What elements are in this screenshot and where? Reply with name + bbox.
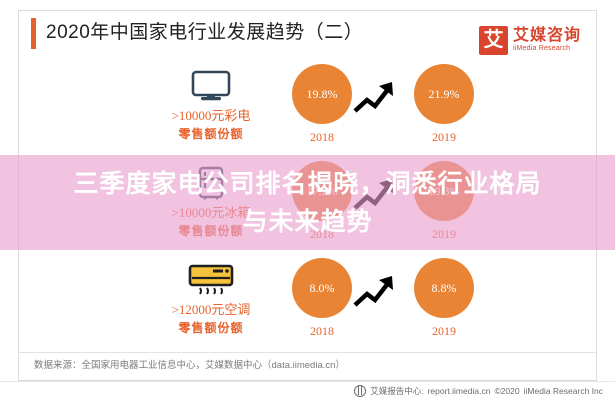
infographic-canvas: 2020年中国家电行业发展趋势（二） 艾 艾媒咨询 iiMedia Resear… bbox=[0, 0, 615, 400]
brand-logo: 艾 艾媒咨询 iiMedia Research bbox=[479, 26, 581, 55]
bubble-value-2018: 19.8% bbox=[292, 64, 352, 124]
promo-overlay-headline: 三季度家电公司排名揭晓，洞悉行业格局与未来趋势 bbox=[73, 165, 543, 241]
row-label-line1: >12000元空调 bbox=[172, 300, 251, 319]
trend-up-arrow-icon bbox=[352, 272, 398, 312]
bubble-year-2019: 2019 bbox=[432, 324, 456, 339]
row-label-block: >10000元彩电 零售额份额 bbox=[126, 58, 296, 154]
bubble-2019: 8.8% 2019 bbox=[396, 258, 492, 346]
trend-up-arrow-icon bbox=[352, 78, 398, 118]
source-text: 数据来源：全国家用电器工业信息中心，艾媒数据中心（data.iimedia.cn… bbox=[34, 359, 345, 373]
globe-icon bbox=[354, 385, 366, 397]
brand-name-cn: 艾媒咨询 bbox=[513, 27, 581, 44]
promo-overlay-banner: 三季度家电公司排名揭晓，洞悉行业格局与未来趋势 bbox=[0, 155, 615, 250]
title-accent-bar bbox=[31, 18, 36, 49]
row-label-line1: >10000元彩电 bbox=[172, 106, 251, 125]
row-label-block: >12000元空调 零售额份额 bbox=[126, 252, 296, 348]
bubble-value-2018: 8.0% bbox=[292, 258, 352, 318]
header: 2020年中国家电行业发展趋势（二） 艾 艾媒咨询 iiMedia Resear… bbox=[18, 14, 597, 54]
source-footer: 数据来源：全国家用电器工业信息中心，艾媒数据中心（data.iimedia.cn… bbox=[18, 352, 597, 380]
brand-mark-icon: 艾 bbox=[479, 26, 508, 55]
report-center-label: 艾媒报告中心: bbox=[370, 384, 423, 398]
air-conditioner-icon bbox=[187, 263, 235, 297]
brand-wordmark: 艾媒咨询 iiMedia Research bbox=[513, 27, 581, 54]
bottom-bar: 艾媒报告中心: report.iimedia.cn ©2020 iiMedia … bbox=[0, 381, 615, 400]
data-row: >10000元彩电 零售额份额 19.8% 2018 21.9% 2019 bbox=[18, 58, 597, 154]
bottom-bar-content: 艾媒报告中心: report.iimedia.cn ©2020 iiMedia … bbox=[354, 384, 603, 398]
bubble-value-2019: 8.8% bbox=[414, 258, 474, 318]
bubble-2019: 21.9% 2019 bbox=[396, 64, 492, 152]
row-label-line2: 零售额份额 bbox=[178, 319, 243, 338]
company-name: iiMedia Research Inc bbox=[524, 384, 603, 398]
bubble-value-2019: 21.9% bbox=[414, 64, 474, 124]
report-url-link[interactable]: report.iimedia.cn bbox=[428, 384, 491, 398]
page-title: 2020年中国家电行业发展趋势（二） bbox=[46, 17, 363, 49]
bubble-year-2018: 2018 bbox=[310, 324, 334, 339]
bubble-year-2018: 2018 bbox=[310, 130, 334, 145]
row-label-line2: 零售额份额 bbox=[178, 125, 243, 144]
data-row: >12000元空调 零售额份额 8.0% 2018 8.8% 2019 bbox=[18, 252, 597, 348]
television-icon bbox=[190, 69, 232, 103]
bubble-year-2019: 2019 bbox=[432, 130, 456, 145]
brand-name-en: iiMedia Research bbox=[513, 44, 581, 54]
copyright-year: ©2020 bbox=[494, 384, 519, 398]
